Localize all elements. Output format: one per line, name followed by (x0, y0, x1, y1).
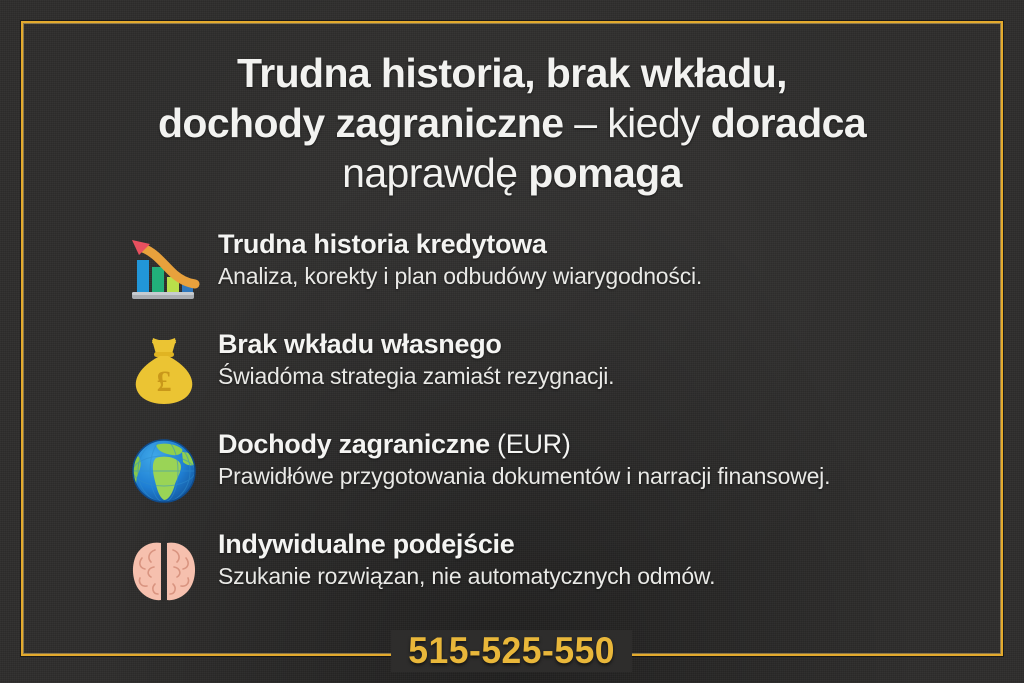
headline-line-3-bold: pomaga (528, 150, 682, 196)
feature-title-main: Trudna historia kredytowa (218, 229, 547, 259)
list-item: Indywidualne podejście Szukanie rozwiąza… (122, 530, 1008, 614)
globe-icon (126, 434, 202, 508)
headline-line-3-regular: naprawdę (342, 150, 528, 196)
svg-text:£: £ (157, 365, 172, 398)
feature-subtitle: Analiza, korekty i plan odbudówy wiarygo… (218, 263, 1008, 289)
feature-title: Dochody zagraniczne (EUR) (218, 430, 1008, 460)
declining-bar-chart-icon (126, 234, 202, 308)
headline-line-2-bold-end: doradca (711, 100, 866, 146)
brain-icon (126, 534, 202, 608)
footer-phone-strip: 515-525-550 (21, 627, 1003, 675)
feature-subtitle: Świadóma strategia zamiaśt rezygnacji. (218, 363, 1008, 389)
headline-line-2-regular: – kiedy (563, 100, 710, 146)
feature-subtitle: Prawidłówe przygotowania dokumentów i na… (218, 463, 1008, 489)
list-item: Dochody zagraniczne (EUR) Prawidłówe prz… (122, 430, 1008, 514)
list-item: £ Brak wkładu własnego Świadóma strategi… (122, 330, 1008, 414)
headline-line-2-bold-start: dochody zagraniczne (158, 100, 564, 146)
feature-title: Trudna historia kredytowa (218, 230, 1008, 260)
money-bag-icon: £ (126, 334, 202, 408)
page-title: Trudna historia, brak wkładu, dochody za… (0, 52, 1024, 196)
headline-line-2: dochody zagraniczne – kiedy doradca (0, 102, 1024, 146)
feature-title: Indywidualne podejście (218, 530, 1008, 560)
feature-title-main: Indywidualne podejście (218, 529, 514, 559)
feature-title: Brak wkładu własnego (218, 330, 1008, 360)
headline-line-3: naprawdę pomaga (0, 152, 1024, 196)
headline-line-1: Trudna historia, brak wkładu, (0, 52, 1024, 96)
poster-content: Trudna historia, brak wkładu, dochody za… (0, 0, 1024, 683)
list-item: Trudna historia kredytowa Analiza, korek… (122, 230, 1008, 314)
phone-number[interactable]: 515-525-550 (391, 630, 632, 672)
feature-title-main: Brak wkładu własnego (218, 329, 502, 359)
feature-title-main: Dochody zagraniczne (218, 429, 490, 459)
feature-list: Trudna historia kredytowa Analiza, korek… (122, 230, 1008, 614)
promo-poster: Trudna historia, brak wkładu, dochody za… (0, 0, 1024, 683)
feature-subtitle: Szukanie rozwiązan, nie automatycznych o… (218, 563, 1008, 589)
feature-title-suffix: (EUR) (490, 429, 571, 459)
